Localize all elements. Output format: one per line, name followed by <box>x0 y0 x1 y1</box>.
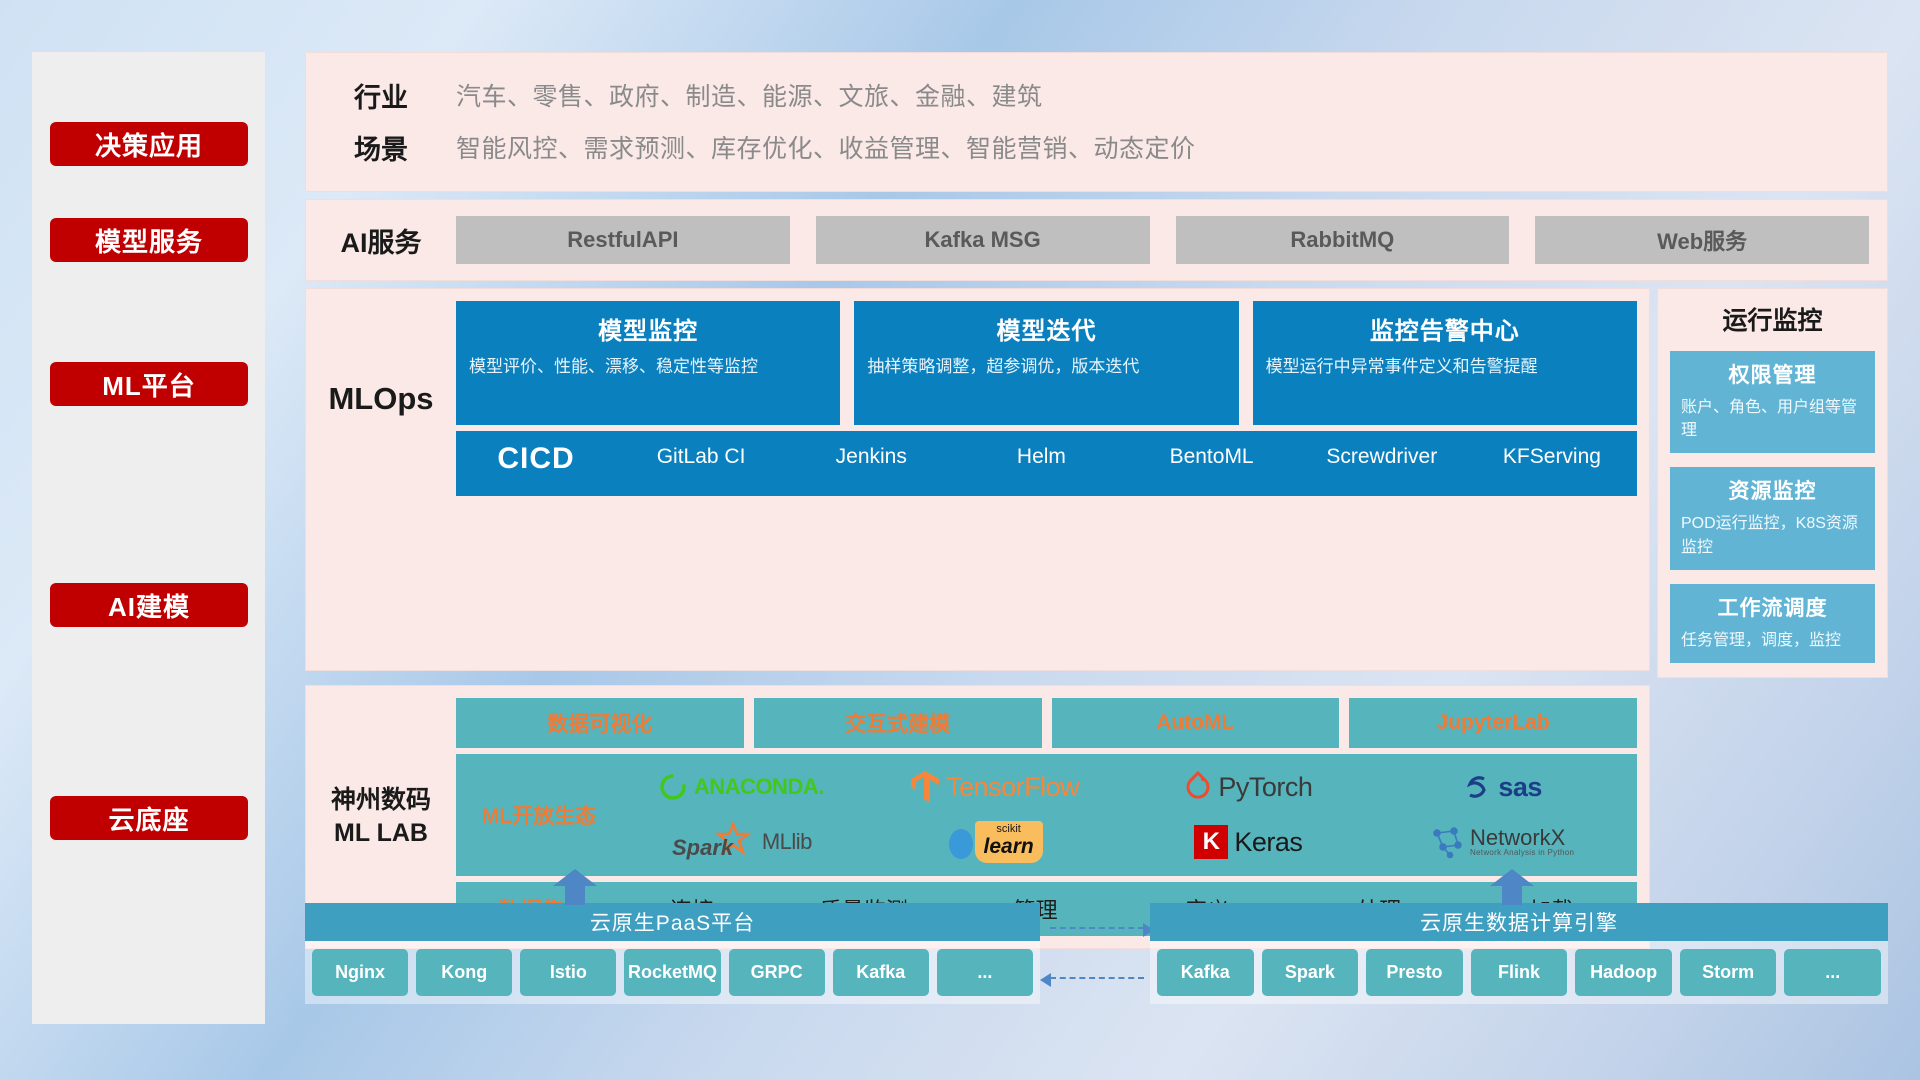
mlops-card-title: 模型迭代 <box>867 311 1225 346</box>
cloud-chip-kong[interactable]: Kong <box>416 949 512 996</box>
anaconda-label: ANACONDA. <box>694 774 824 800</box>
cicd-item-screwdriver[interactable]: Screwdriver <box>1297 442 1467 472</box>
up-arrow-icon <box>1490 869 1534 905</box>
industry-row: 行业 汽车、零售、政府、制造、能源、文旅、金融、建筑 <box>306 69 1887 121</box>
monitor-card-title: 资源监控 <box>1681 475 1864 505</box>
cloud-chip-hadoop[interactable]: Hadoop <box>1575 949 1672 996</box>
cloud-chip-grpc[interactable]: GRPC <box>729 949 825 996</box>
mllib-label: MLlib <box>762 829 812 855</box>
monitor-card-desc: POD运行监控，K8S资源监控 <box>1681 512 1864 558</box>
runtime-monitoring-title: 运行监控 <box>1670 301 1875 337</box>
cicd-title: CICD <box>456 442 616 476</box>
scikit-label: scikit <box>984 823 1034 835</box>
anaconda-logo: ANACONDA. <box>658 772 824 802</box>
spark-mllib-logo: Spark MLlib <box>670 822 812 862</box>
cloud-data-engine-title: 云原生数据计算引擎 <box>1150 903 1888 941</box>
keras-label: Keras <box>1234 827 1302 858</box>
networkx-label: NetworkX <box>1470 827 1574 849</box>
ai-service-chip-kafka-msg[interactable]: Kafka MSG <box>816 216 1150 264</box>
cicd-item-helm[interactable]: Helm <box>956 442 1126 472</box>
mlops-card-title: 监控告警中心 <box>1266 311 1624 346</box>
cloud-paas-chip-list: Nginx Kong Istio RocketMQ GRPC Kafka ... <box>305 941 1040 1004</box>
rail-chip-cloud-base[interactable]: 云底座 <box>50 796 248 840</box>
runtime-monitoring-band: 运行监控 权限管理 账户、角色、用户组等管理 资源监控 POD运行监控，K8S资… <box>1657 288 1888 678</box>
monitor-card-resource-monitoring[interactable]: 资源监控 POD运行监控，K8S资源监控 <box>1670 467 1875 569</box>
cloud-chip-kafka[interactable]: Kafka <box>833 949 929 996</box>
decision-application-band: 行业 汽车、零售、政府、制造、能源、文旅、金融、建筑 场景 智能风控、需求预测、… <box>305 52 1888 192</box>
svg-text:Spark: Spark <box>672 835 735 860</box>
rail-chip-ml-platform[interactable]: ML平台 <box>50 362 248 406</box>
pytorch-logo: PyTorch <box>1184 771 1312 803</box>
cloud-chip-spark[interactable]: Spark <box>1262 949 1359 996</box>
ml-lab-label-line2: ML LAB <box>306 817 456 850</box>
ai-service-label: AI服务 <box>306 221 456 260</box>
ml-lab-label: 神州数码 ML LAB <box>306 784 456 849</box>
mlops-card-model-iteration[interactable]: 模型迭代 抽样策略调整，超参调优，版本迭代 <box>854 301 1238 425</box>
cicd-item-gitlab-ci[interactable]: GitLab CI <box>616 442 786 472</box>
rail-chip-decision-app[interactable]: 决策应用 <box>50 122 248 166</box>
tensorflow-label: TensorFlow <box>946 772 1079 803</box>
paas-to-data-arrow <box>1050 927 1144 929</box>
scikit-learn-logo: scikit learn <box>947 821 1043 863</box>
mlops-band: MLOps 模型监控 模型评价、性能、漂移、稳定性等监控 模型迭代 抽样策略调整… <box>305 288 1650 671</box>
networkx-text-block: NetworkX Network Analysis in Python <box>1470 827 1574 857</box>
cloud-chip-flink[interactable]: Flink <box>1471 949 1568 996</box>
ml-lab-tool-jupyterlab[interactable]: JupyterLab <box>1349 698 1637 748</box>
ml-platform-row: MLOps 模型监控 模型评价、性能、漂移、稳定性等监控 模型迭代 抽样策略调整… <box>305 288 1888 678</box>
cloud-chip-storm[interactable]: Storm <box>1680 949 1777 996</box>
cicd-item-bentoml[interactable]: BentoML <box>1127 442 1297 472</box>
ml-lab-tool-data-visualization[interactable]: 数据可视化 <box>456 698 744 748</box>
mlops-label: MLOps <box>306 301 456 496</box>
industry-values: 汽车、零售、政府、制造、能源、文旅、金融、建筑 <box>456 77 1043 113</box>
networkx-tagline: Network Analysis in Python <box>1470 849 1574 857</box>
mlops-card-list: 模型监控 模型评价、性能、漂移、稳定性等监控 模型迭代 抽样策略调整，超参调优，… <box>456 301 1637 425</box>
pytorch-icon <box>1184 771 1212 803</box>
ai-service-band: AI服务 RestfulAPI Kafka MSG RabbitMQ Web服务 <box>305 199 1888 281</box>
monitor-card-title: 权限管理 <box>1681 359 1864 389</box>
mlops-card-model-monitoring[interactable]: 模型监控 模型评价、性能、漂移、稳定性等监控 <box>456 301 840 425</box>
spark-icon: Spark <box>670 822 756 862</box>
ai-service-chip-restfulapi[interactable]: RestfulAPI <box>456 216 790 264</box>
rail-chip-ai-modeling[interactable]: AI建模 <box>50 583 248 627</box>
cloud-chip-more[interactable]: ... <box>1784 949 1881 996</box>
ml-ecosystem-label: ML开放生态 <box>464 800 614 830</box>
monitor-card-desc: 任务管理，调度，监控 <box>1681 629 1864 652</box>
tensorflow-logo: TensorFlow <box>910 770 1079 804</box>
ml-lab-tool-automl[interactable]: AutoML <box>1052 698 1340 748</box>
ai-service-chip-rabbitmq[interactable]: RabbitMQ <box>1176 216 1510 264</box>
cloud-native-paas-group: 云原生PaaS平台 Nginx Kong Istio RocketMQ GRPC… <box>305 903 1040 1004</box>
ml-ecosystem-row: ML开放生态 ANACONDA. TensorFlo <box>456 754 1637 876</box>
pytorch-label: PyTorch <box>1218 772 1312 803</box>
monitor-card-permission-management[interactable]: 权限管理 账户、角色、用户组等管理 <box>1670 351 1875 453</box>
cloud-chip-nginx[interactable]: Nginx <box>312 949 408 996</box>
monitor-card-title: 工作流调度 <box>1681 592 1864 622</box>
cloud-data-engine-chip-list: Kafka Spark Presto Flink Hadoop Storm ..… <box>1150 941 1888 1004</box>
mlops-card-desc: 模型运行中异常事件定义和告警提醒 <box>1266 355 1624 380</box>
cloud-native-data-engine-group: 云原生数据计算引擎 Kafka Spark Presto Flink Hadoo… <box>1150 903 1888 1004</box>
ai-service-chip-web-service[interactable]: Web服务 <box>1535 216 1869 264</box>
keras-icon: K <box>1194 825 1228 859</box>
cloud-paas-title: 云原生PaaS平台 <box>305 903 1040 941</box>
mlops-card-desc: 抽样策略调整，超参调优，版本迭代 <box>867 355 1225 380</box>
keras-logo: K Keras <box>1194 825 1302 859</box>
layer-rail: 决策应用 模型服务 ML平台 AI建模 云底座 <box>32 52 265 1024</box>
data-to-paas-arrow <box>1050 977 1144 979</box>
ml-lab-label-line1: 神州数码 <box>306 784 456 817</box>
mlops-card-title: 模型监控 <box>469 311 827 346</box>
cicd-item-jenkins[interactable]: Jenkins <box>786 442 956 472</box>
networkx-logo: NetworkX Network Analysis in Python <box>1430 825 1574 859</box>
cicd-bar: CICD GitLab CI Jenkins Helm BentoML Scre… <box>456 431 1637 496</box>
cloud-chip-presto[interactable]: Presto <box>1366 949 1463 996</box>
scenario-label: 场景 <box>306 128 456 167</box>
arrowhead-left-icon <box>1040 973 1051 987</box>
cloud-chip-kafka[interactable]: Kafka <box>1157 949 1254 996</box>
ml-ecosystem-logo-grid: ANACONDA. TensorFlow <box>614 760 1629 870</box>
architecture-main-column: 行业 汽车、零售、政府、制造、能源、文旅、金融、建筑 场景 智能风控、需求预测、… <box>305 52 1888 956</box>
learn-label: learn <box>984 835 1034 859</box>
sas-label: sas <box>1498 772 1542 803</box>
networkx-icon <box>1430 825 1464 859</box>
ml-lab-tool-interactive-modeling[interactable]: 交互式建模 <box>754 698 1042 748</box>
scenario-values: 智能风控、需求预测、库存优化、收益管理、智能营销、动态定价 <box>456 129 1196 165</box>
cloud-foundation-zone: 云原生PaaS平台 Nginx Kong Istio RocketMQ GRPC… <box>305 885 1888 1035</box>
rail-chip-model-service[interactable]: 模型服务 <box>50 218 248 262</box>
cloud-chip-more[interactable]: ... <box>937 949 1033 996</box>
sas-logo: sas <box>1462 772 1542 803</box>
ai-service-list: RestfulAPI Kafka MSG RabbitMQ Web服务 <box>456 216 1869 264</box>
cloud-chip-rocketmq[interactable]: RocketMQ <box>624 949 720 996</box>
up-arrow-icon <box>553 869 597 905</box>
tensorflow-icon <box>910 770 940 804</box>
monitor-card-desc: 账户、角色、用户组等管理 <box>1681 396 1864 442</box>
sas-icon <box>1462 772 1492 802</box>
cicd-item-kfserving[interactable]: KFServing <box>1467 442 1637 472</box>
ml-lab-tool-list: 数据可视化 交互式建模 AutoML JupyterLab <box>456 698 1637 748</box>
scenario-row: 场景 智能风控、需求预测、库存优化、收益管理、智能营销、动态定价 <box>306 121 1887 173</box>
scikit-learn-badge: scikit learn <box>975 821 1043 863</box>
mlops-card-desc: 模型评价、性能、漂移、稳定性等监控 <box>469 355 827 380</box>
anaconda-icon <box>658 772 688 802</box>
industry-label: 行业 <box>306 76 456 115</box>
mlops-card-alert-center[interactable]: 监控告警中心 模型运行中异常事件定义和告警提醒 <box>1253 301 1637 425</box>
monitor-card-workflow-scheduling[interactable]: 工作流调度 任务管理，调度，监控 <box>1670 584 1875 663</box>
cloud-chip-istio[interactable]: Istio <box>520 949 616 996</box>
